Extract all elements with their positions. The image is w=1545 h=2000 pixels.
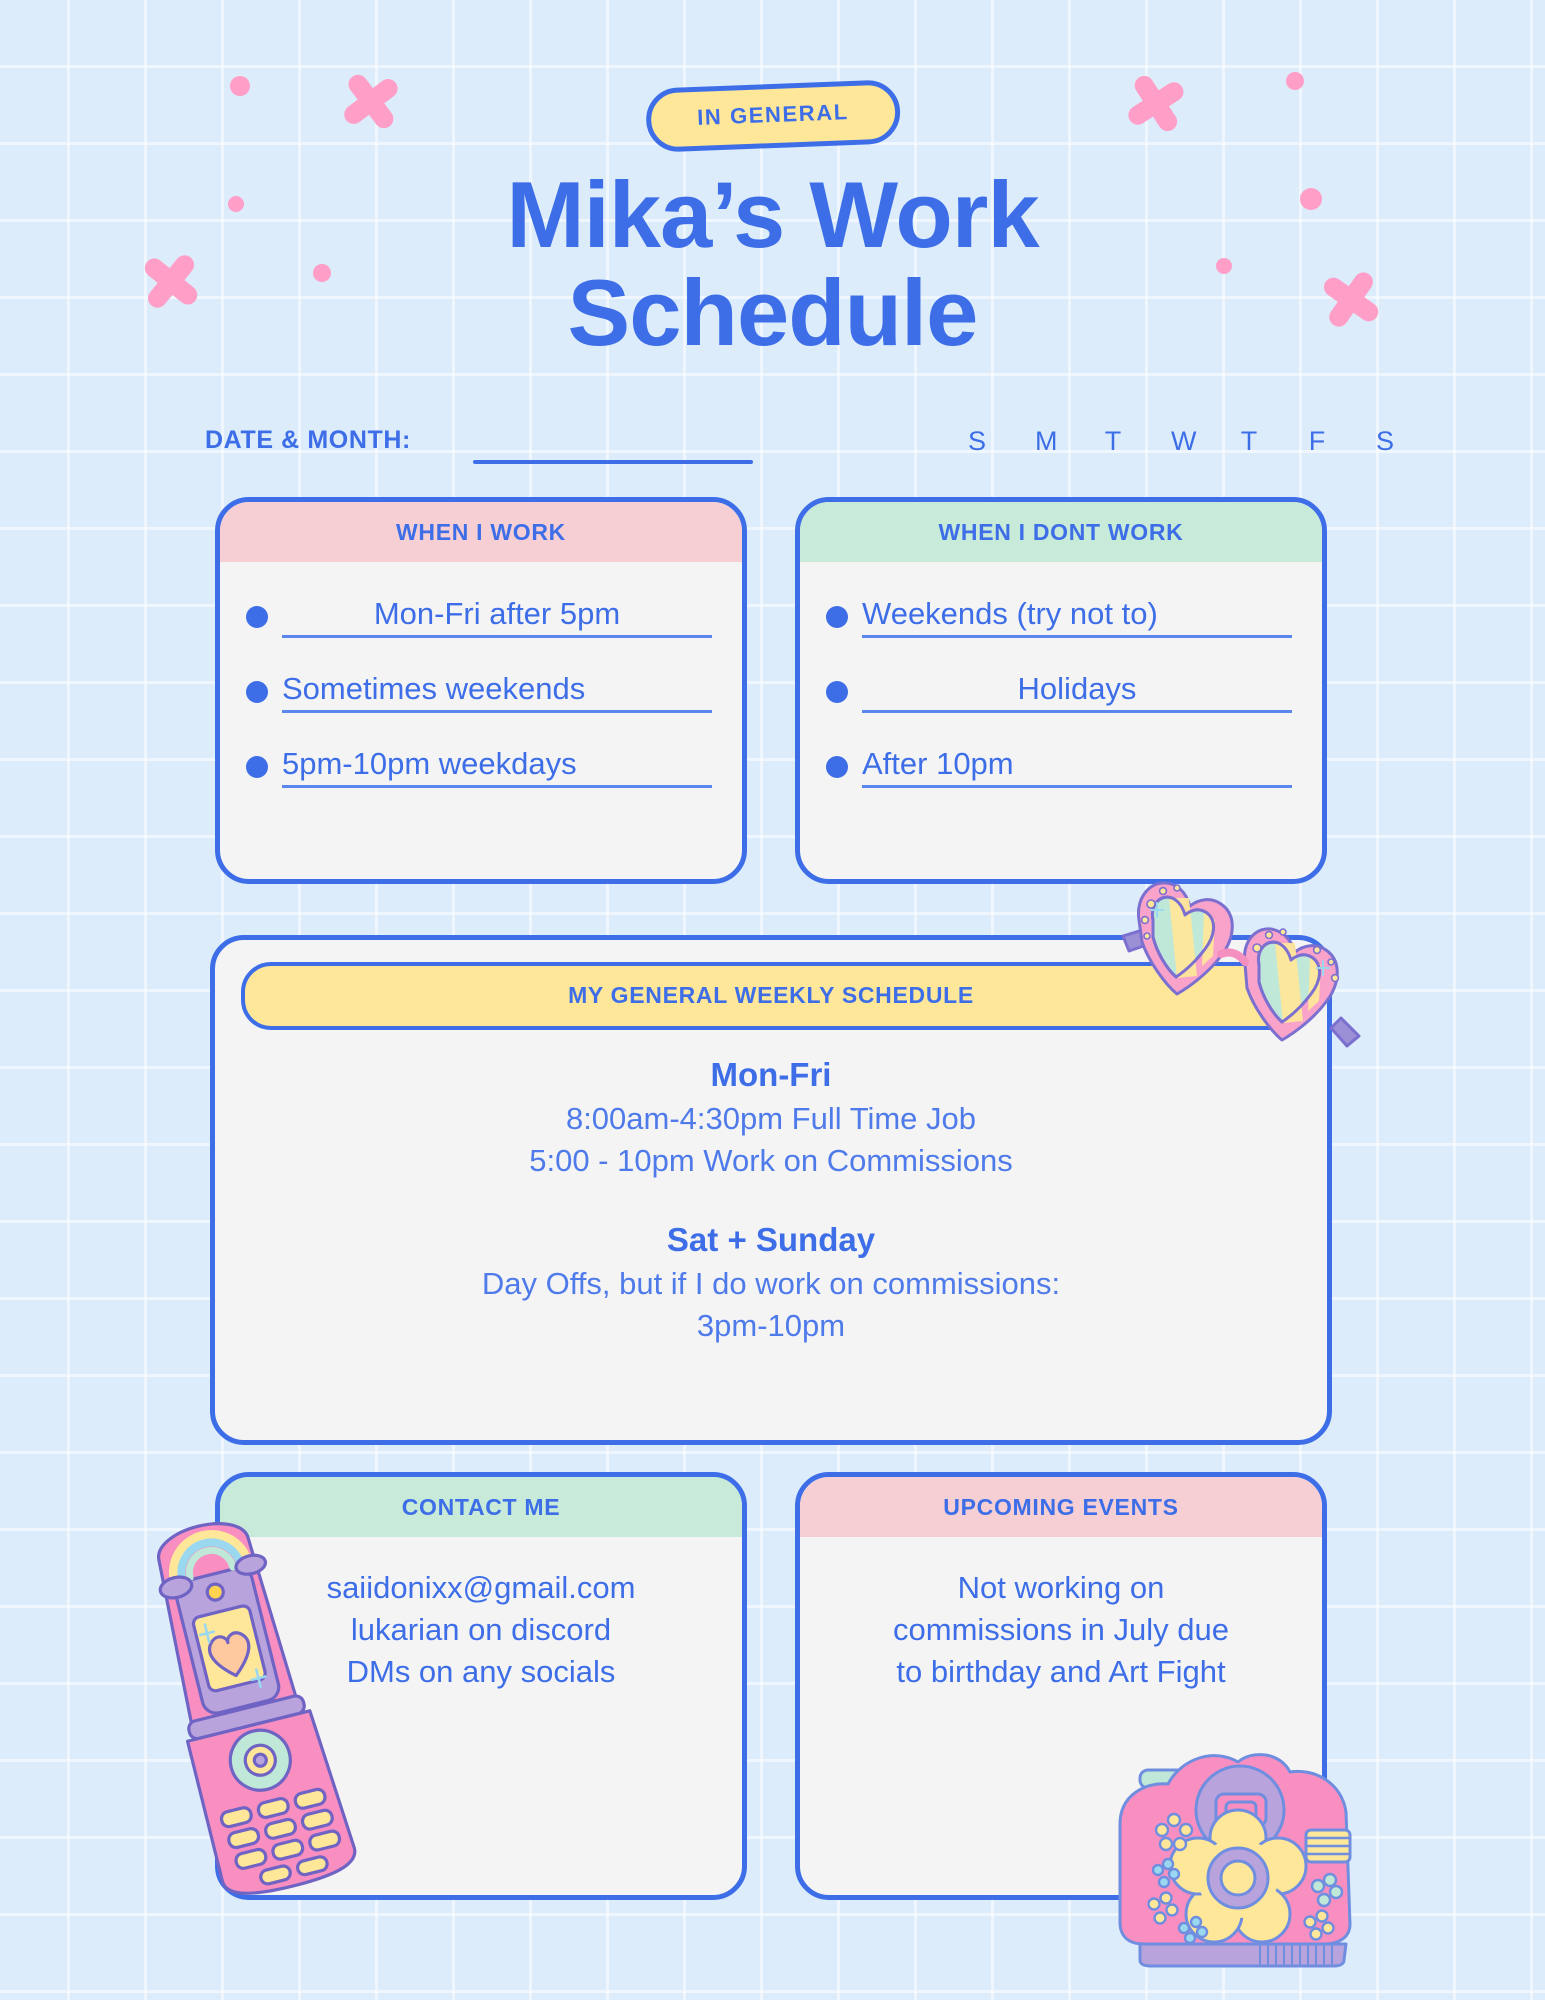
title-line-2: Schedule <box>0 264 1545 362</box>
page-title: Mika’s Work Schedule <box>0 166 1545 362</box>
weekly-block2-line1: Day Offs, but if I do work on commission… <box>245 1263 1297 1305</box>
bullet-field[interactable]: Mon-Fri after 5pm <box>282 596 712 638</box>
badge-label: IN GENERAL <box>645 79 901 153</box>
bullet-field[interactable]: Weekends (try not to) <box>862 596 1292 638</box>
list-item[interactable]: Weekends (try not to) <box>826 596 1292 638</box>
date-month-input-line[interactable] <box>473 460 753 464</box>
when-i-work-list: Mon-Fri after 5pm Sometimes weekends 5pm… <box>220 562 742 831</box>
list-item-label: Weekends (try not to) <box>862 596 1292 632</box>
contact-discord: lukarian on discord <box>242 1609 720 1651</box>
card-when-i-dont-work: WHEN I DONT WORK Weekends (try not to) H… <box>795 497 1327 884</box>
date-row: DATE & MONTH: S M T W T F S <box>205 426 1395 466</box>
bullet-field[interactable]: 5pm-10pm weekdays <box>282 746 712 788</box>
list-item[interactable]: 5pm-10pm weekdays <box>246 746 712 788</box>
card-when-i-dont-work-title: WHEN I DONT WORK <box>800 502 1322 562</box>
weekday-fri[interactable]: F <box>1307 426 1327 457</box>
list-item[interactable]: Holidays <box>826 671 1292 713</box>
upcoming-events-body: Not working on commissions in July due t… <box>800 1537 1322 1693</box>
upcoming-line-3: to birthday and Art Fight <box>822 1651 1300 1693</box>
weekday-initials: S M T W T F S <box>967 426 1395 457</box>
weekly-block1-line1: 8:00am-4:30pm Full Time Job <box>245 1098 1297 1140</box>
card-contact-me: CONTACT ME saiidonixx@gmail.com lukarian… <box>215 1472 747 1900</box>
weekly-schedule-body: Mon-Fri 8:00am-4:30pm Full Time Job 5:00… <box>215 1030 1327 1346</box>
bullet-dot-icon <box>826 756 848 778</box>
card-contact-me-title: CONTACT ME <box>220 1477 742 1537</box>
weekly-block1-heading: Mon-Fri <box>245 1056 1297 1094</box>
weekly-block1-line2: 5:00 - 10pm Work on Commissions <box>245 1140 1297 1182</box>
bullet-field[interactable]: After 10pm <box>862 746 1292 788</box>
card-weekly-schedule: MY GENERAL WEEKLY SCHEDULE Mon-Fri 8:00a… <box>210 935 1332 1445</box>
weekday-sat[interactable]: S <box>1375 426 1395 457</box>
in-general-badge: IN GENERAL <box>645 79 901 153</box>
weekly-spacer <box>245 1181 1297 1221</box>
bullet-dot-icon <box>246 756 268 778</box>
bullet-dot-icon <box>246 606 268 628</box>
weekly-schedule-title: MY GENERAL WEEKLY SCHEDULE <box>241 962 1301 1030</box>
list-item[interactable]: After 10pm <box>826 746 1292 788</box>
date-month-label: DATE & MONTH: <box>205 426 411 455</box>
bullet-dot-icon <box>826 606 848 628</box>
list-item-label: 5pm-10pm weekdays <box>282 746 712 782</box>
weekday-thu[interactable]: T <box>1239 426 1259 457</box>
list-item[interactable]: Mon-Fri after 5pm <box>246 596 712 638</box>
weekday-sun[interactable]: S <box>967 426 987 457</box>
card-when-i-work-title: WHEN I WORK <box>220 502 742 562</box>
list-item[interactable]: Sometimes weekends <box>246 671 712 713</box>
bullet-field[interactable]: Sometimes weekends <box>282 671 712 713</box>
list-item-label: After 10pm <box>862 746 1292 782</box>
card-upcoming-events: UPCOMING EVENTS Not working on commissio… <box>795 1472 1327 1900</box>
weekday-wed[interactable]: W <box>1171 426 1191 457</box>
weekday-mon[interactable]: M <box>1035 426 1055 457</box>
weekday-tue[interactable]: T <box>1103 426 1123 457</box>
weekly-block2-heading: Sat + Sunday <box>245 1221 1297 1259</box>
bullet-field[interactable]: Holidays <box>862 671 1292 713</box>
bullet-dot-icon <box>246 681 268 703</box>
contact-socials: DMs on any socials <box>242 1651 720 1693</box>
upcoming-line-2: commissions in July due <box>822 1609 1300 1651</box>
title-line-1: Mika’s Work <box>0 166 1545 264</box>
upcoming-line-1: Not working on <box>822 1567 1300 1609</box>
when-i-dont-work-list: Weekends (try not to) Holidays After 10p… <box>800 562 1322 831</box>
list-item-label: Holidays <box>862 671 1292 707</box>
card-when-i-work: WHEN I WORK Mon-Fri after 5pm Sometimes … <box>215 497 747 884</box>
bullet-dot-icon <box>826 681 848 703</box>
card-upcoming-events-title: UPCOMING EVENTS <box>800 1477 1322 1537</box>
list-item-label: Mon-Fri after 5pm <box>282 596 712 632</box>
list-item-label: Sometimes weekends <box>282 671 712 707</box>
contact-me-body: saiidonixx@gmail.com lukarian on discord… <box>220 1537 742 1693</box>
contact-email[interactable]: saiidonixx@gmail.com <box>242 1567 720 1609</box>
weekly-block2-line2: 3pm-10pm <box>245 1305 1297 1347</box>
